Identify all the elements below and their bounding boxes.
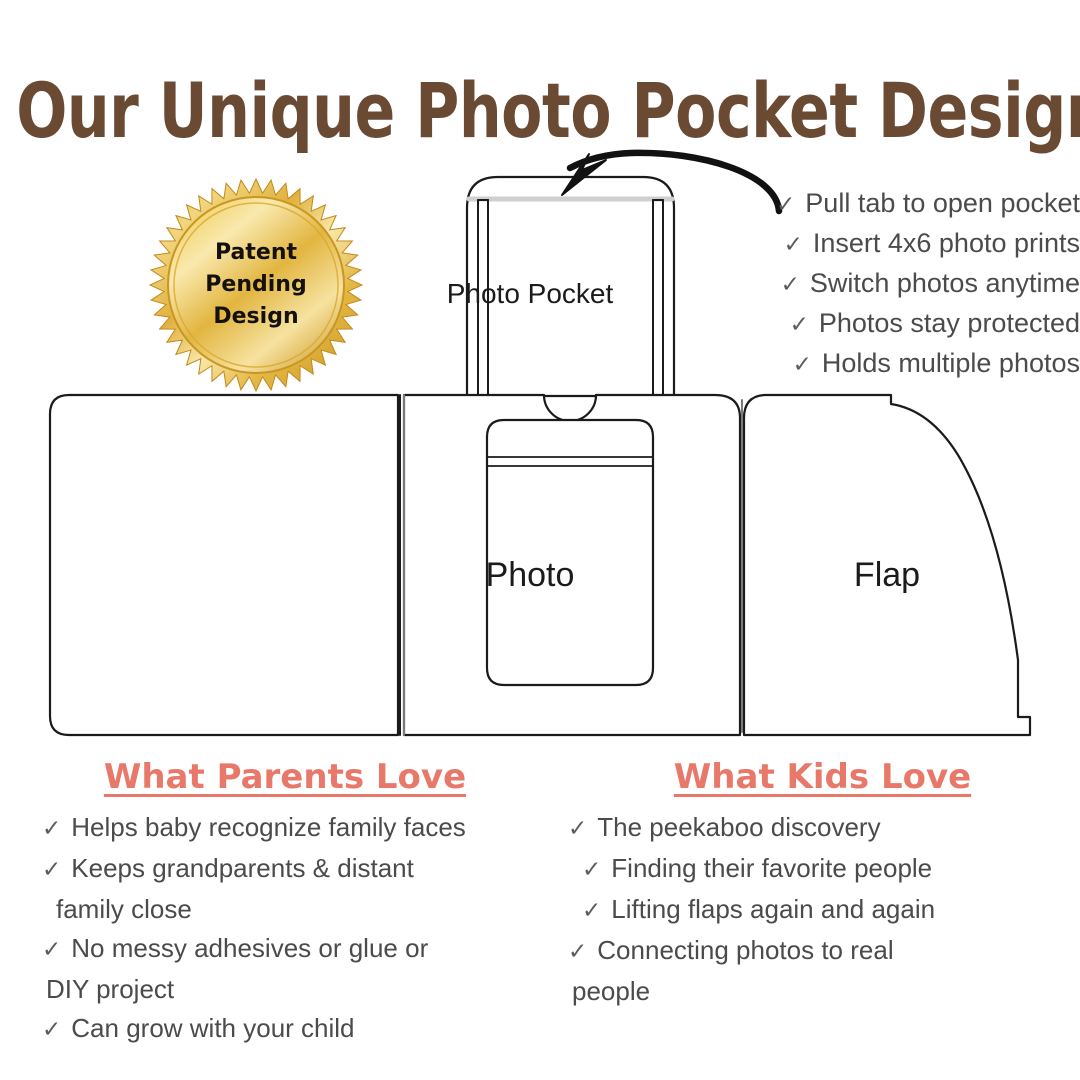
check-icon: ✓	[42, 810, 61, 849]
heading-what-kids-love: What Kids Love	[565, 757, 1080, 797]
parents-line-1: ✓Helps baby recognize family faces	[42, 808, 577, 849]
feature-item-label: Insert 4x6 photo prints	[813, 224, 1080, 262]
parents-line-label: Can grow with your child	[71, 1013, 354, 1043]
label-flap: Flap	[742, 556, 1032, 595]
kids-line-2: ✓Finding their favorite people	[568, 849, 1068, 890]
kids-benefit-list: ✓The peekaboo discovery✓Finding their fa…	[568, 808, 1068, 1011]
check-icon: ✓	[582, 851, 601, 890]
feature-item-5: ✓Holds multiple photos	[700, 344, 1080, 384]
parents-line-4: ✓No messy adhesives or glue or	[42, 929, 577, 970]
feature-item-label: Holds multiple photos	[822, 344, 1080, 382]
check-icon: ✓	[42, 1011, 61, 1050]
parents-line-2: ✓Keeps grandparents & distant	[42, 849, 577, 890]
check-icon: ✓	[784, 226, 803, 264]
kids-line-label: Lifting flaps again and again	[611, 894, 935, 924]
check-icon: ✓	[790, 306, 809, 344]
kids-line-3: ✓Lifting flaps again and again	[568, 890, 1068, 931]
feature-item-label: Pull tab to open pocket	[805, 184, 1080, 222]
photo-card-outline	[487, 420, 653, 685]
heading-what-parents-love: What Parents Love	[0, 757, 570, 797]
feature-item-4: ✓Photos stay protected	[700, 304, 1080, 344]
feature-item-2: ✓Insert 4x6 photo prints	[700, 224, 1080, 264]
parents-line-label: Helps baby recognize family faces	[71, 812, 466, 842]
check-icon: ✓	[781, 266, 800, 304]
kids-line-label: people	[572, 976, 650, 1006]
check-icon: ✓	[776, 186, 795, 224]
feature-item-1: ✓Pull tab to open pocket	[700, 184, 1080, 224]
photo-pocket-infographic: Our Unique Photo Pocket Design	[0, 0, 1080, 1080]
kids-line-1: ✓The peekaboo discovery	[568, 808, 1068, 849]
check-icon: ✓	[793, 346, 812, 384]
page-title: Our Unique Photo Pocket Design	[16, 66, 1064, 155]
check-icon: ✓	[568, 933, 587, 972]
kids-line-5: people	[568, 972, 1068, 1011]
parents-benefit-list: ✓Helps baby recognize family faces✓Keeps…	[42, 808, 577, 1050]
parents-line-3: family close	[42, 890, 577, 929]
feature-item-3: ✓Switch photos anytime	[700, 264, 1080, 304]
kids-line-label: The peekaboo discovery	[597, 812, 880, 842]
feature-item-label: Photos stay protected	[819, 304, 1080, 342]
parents-line-label: family close	[56, 894, 192, 924]
check-icon: ✓	[582, 892, 601, 931]
kids-line-label: Finding their favorite people	[611, 853, 932, 883]
parents-line-label: DIY project	[46, 974, 174, 1004]
parents-line-5: DIY project	[42, 970, 577, 1009]
kids-line-4: ✓Connecting photos to real	[568, 931, 1068, 972]
check-icon: ✓	[42, 851, 61, 890]
feature-list: ✓Pull tab to open pocket✓Insert 4x6 phot…	[700, 184, 1080, 384]
feature-item-label: Switch photos anytime	[810, 264, 1080, 302]
kids-line-label: Connecting photos to real	[597, 935, 893, 965]
parents-line-label: Keeps grandparents & distant	[71, 853, 414, 883]
check-icon: ✓	[42, 931, 61, 970]
parents-line-label: No messy adhesives or glue or	[71, 933, 428, 963]
check-icon: ✓	[568, 810, 587, 849]
parents-line-6: ✓Can grow with your child	[42, 1009, 577, 1050]
